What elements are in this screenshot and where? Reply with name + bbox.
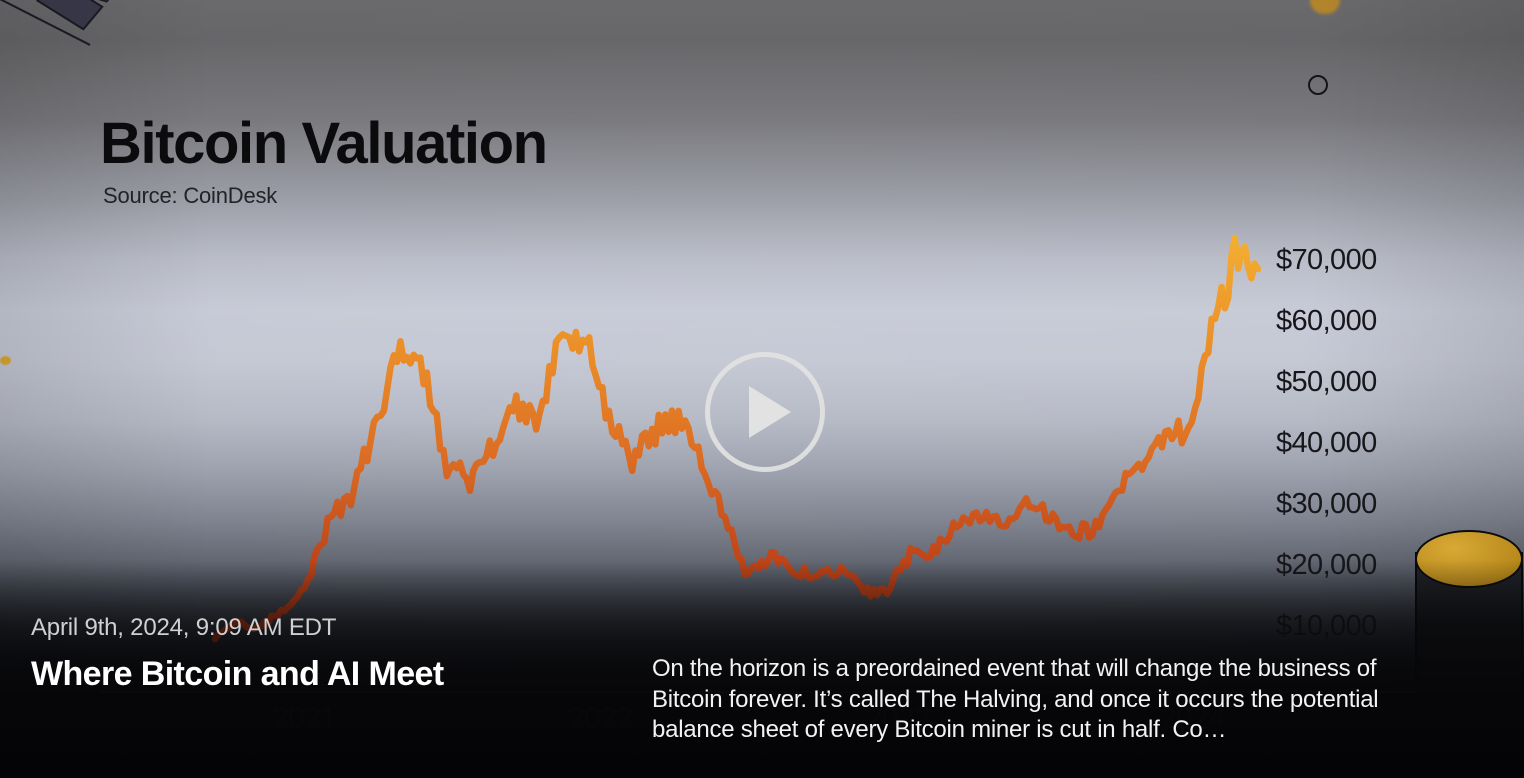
play-icon (749, 386, 791, 438)
y-tick-60000: $60,000 (1276, 307, 1506, 368)
x-tick-2022: 2022 (568, 702, 632, 736)
play-button[interactable] (705, 352, 825, 472)
video-description: On the horizon is a preordained event th… (652, 654, 1382, 746)
video-timestamp: April 9th, 2024, 9:09 AM EDT (31, 614, 336, 642)
y-tick-50000: $50,000 (1276, 368, 1506, 429)
video-player-frame: Bitcoin Valuation Source: CoinDesk 2021 … (0, 0, 1524, 778)
x-tick-2021: 2021 (272, 702, 336, 736)
y-tick-40000: $40,000 (1276, 429, 1506, 490)
y-tick-70000: $70,000 (1276, 246, 1506, 307)
coin-stack-graphic (1415, 530, 1523, 778)
video-headline[interactable]: Where Bitcoin and AI Meet (31, 655, 444, 694)
